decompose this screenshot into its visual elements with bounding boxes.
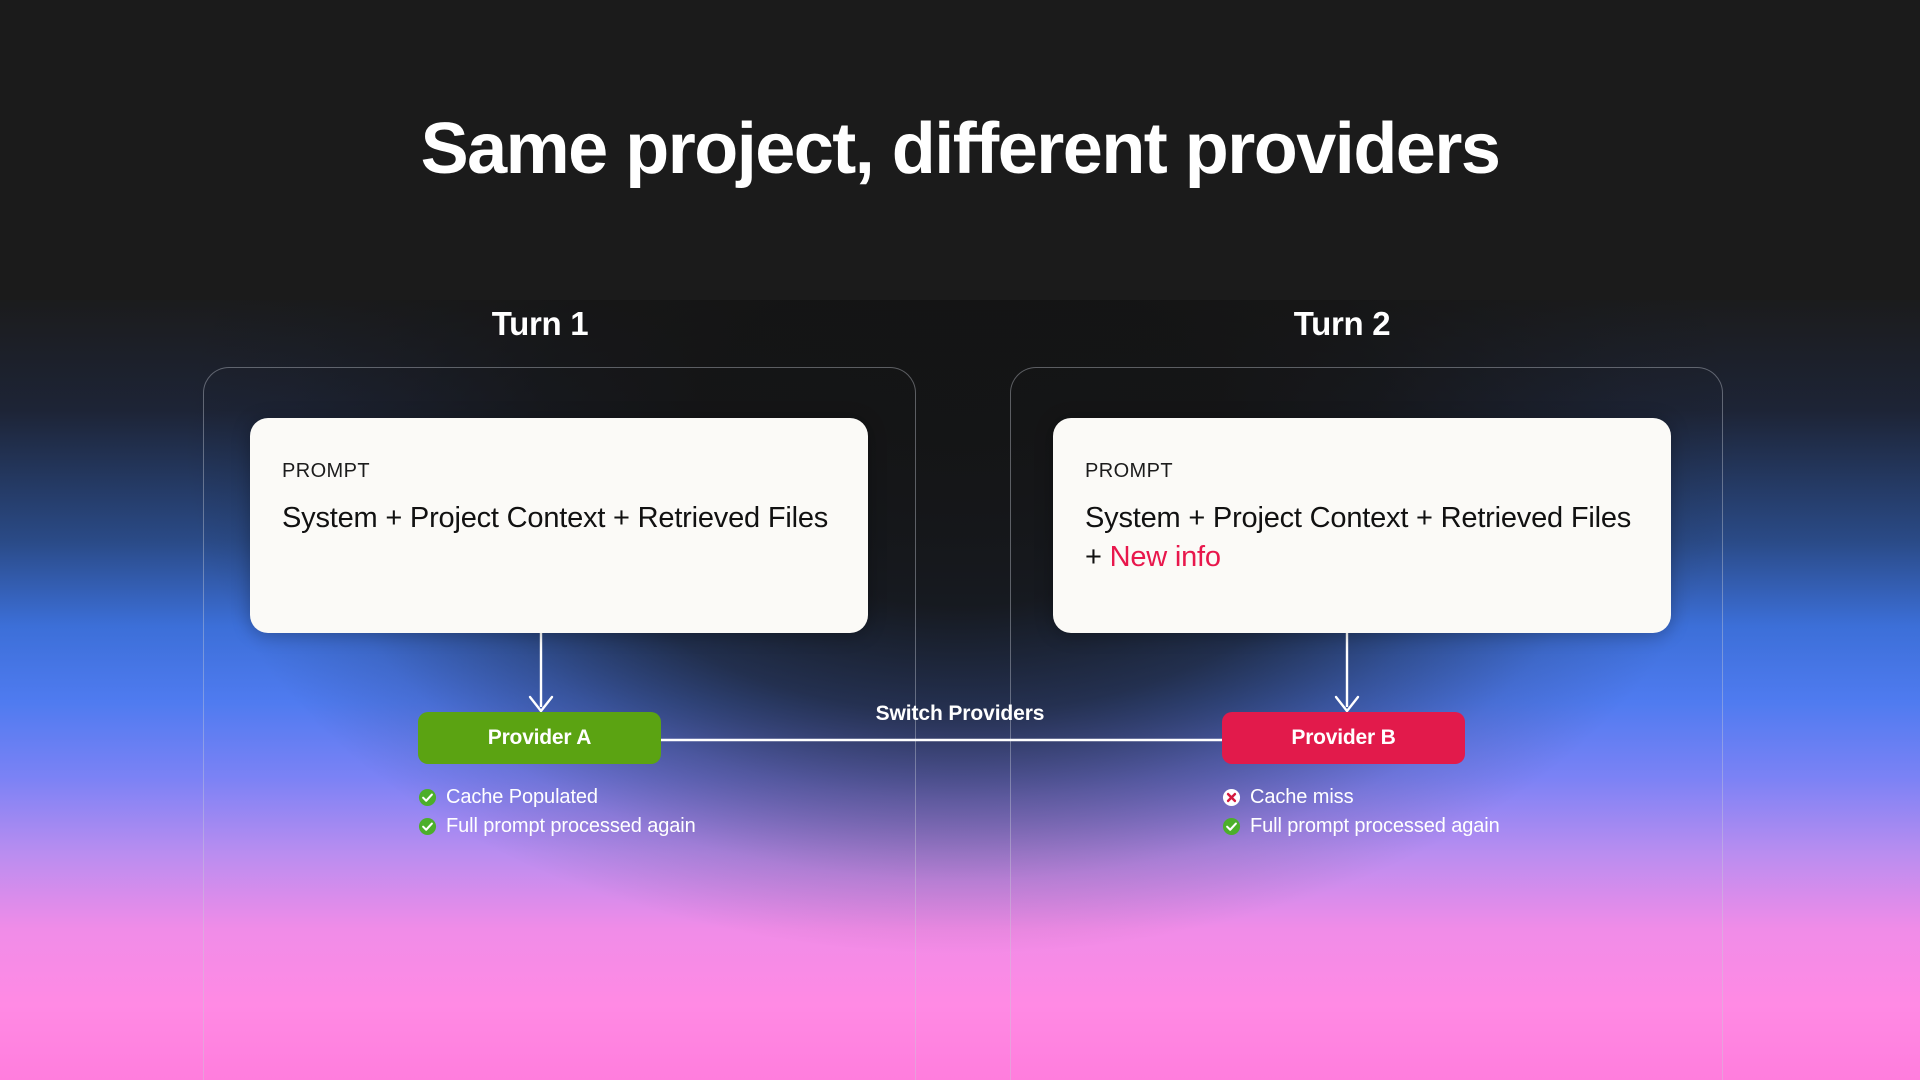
prompt-text-2: System + Project Context + Retrieved Fil… [1085,499,1639,576]
page-title: Same project, different providers [0,108,1920,190]
prompt-highlight-new-info: New info [1110,541,1221,573]
list-item: Full prompt processed again [418,814,696,839]
prompt-text-base-1: System + Project Context + Retrieved Fil… [282,502,828,534]
prompt-text-1: System + Project Context + Retrieved Fil… [282,499,836,538]
check-circle-icon [418,788,437,807]
prompt-card-turn-2: PROMPT System + Project Context + Retrie… [1053,418,1671,633]
down-arrow-icon-turn-2 [1330,633,1364,715]
checklist-turn-1: Cache Populated Full prompt processed ag… [418,785,696,843]
prompt-eyebrow-2: PROMPT [1085,460,1639,483]
turn-label-1: Turn 1 [370,305,710,343]
provider-a-pill[interactable]: Provider A [418,712,661,764]
checklist-turn-2: Cache miss Full prompt processed again [1222,785,1500,843]
checklist-text: Full prompt processed again [1250,815,1500,838]
down-arrow-icon-turn-1 [524,633,558,715]
check-circle-icon [418,817,437,836]
list-item: Cache miss [1222,785,1500,810]
checklist-text: Cache Populated [446,786,598,809]
list-item: Full prompt processed again [1222,814,1500,839]
provider-b-pill[interactable]: Provider B [1222,712,1465,764]
prompt-card-turn-1: PROMPT System + Project Context + Retrie… [250,418,868,633]
list-item: Cache Populated [418,785,696,810]
switch-providers-arrow-icon [660,722,1260,758]
prompt-eyebrow-1: PROMPT [282,460,836,483]
slide-canvas: Same project, different providers Turn 1… [0,0,1920,1080]
checklist-text: Full prompt processed again [446,815,696,838]
x-circle-icon [1222,788,1241,807]
checklist-text: Cache miss [1250,786,1353,809]
provider-a-label: Provider A [488,726,591,750]
turn-label-2: Turn 2 [1172,305,1512,343]
provider-b-label: Provider B [1291,726,1395,750]
check-circle-icon [1222,817,1241,836]
switch-providers-label: Switch Providers [660,702,1260,726]
